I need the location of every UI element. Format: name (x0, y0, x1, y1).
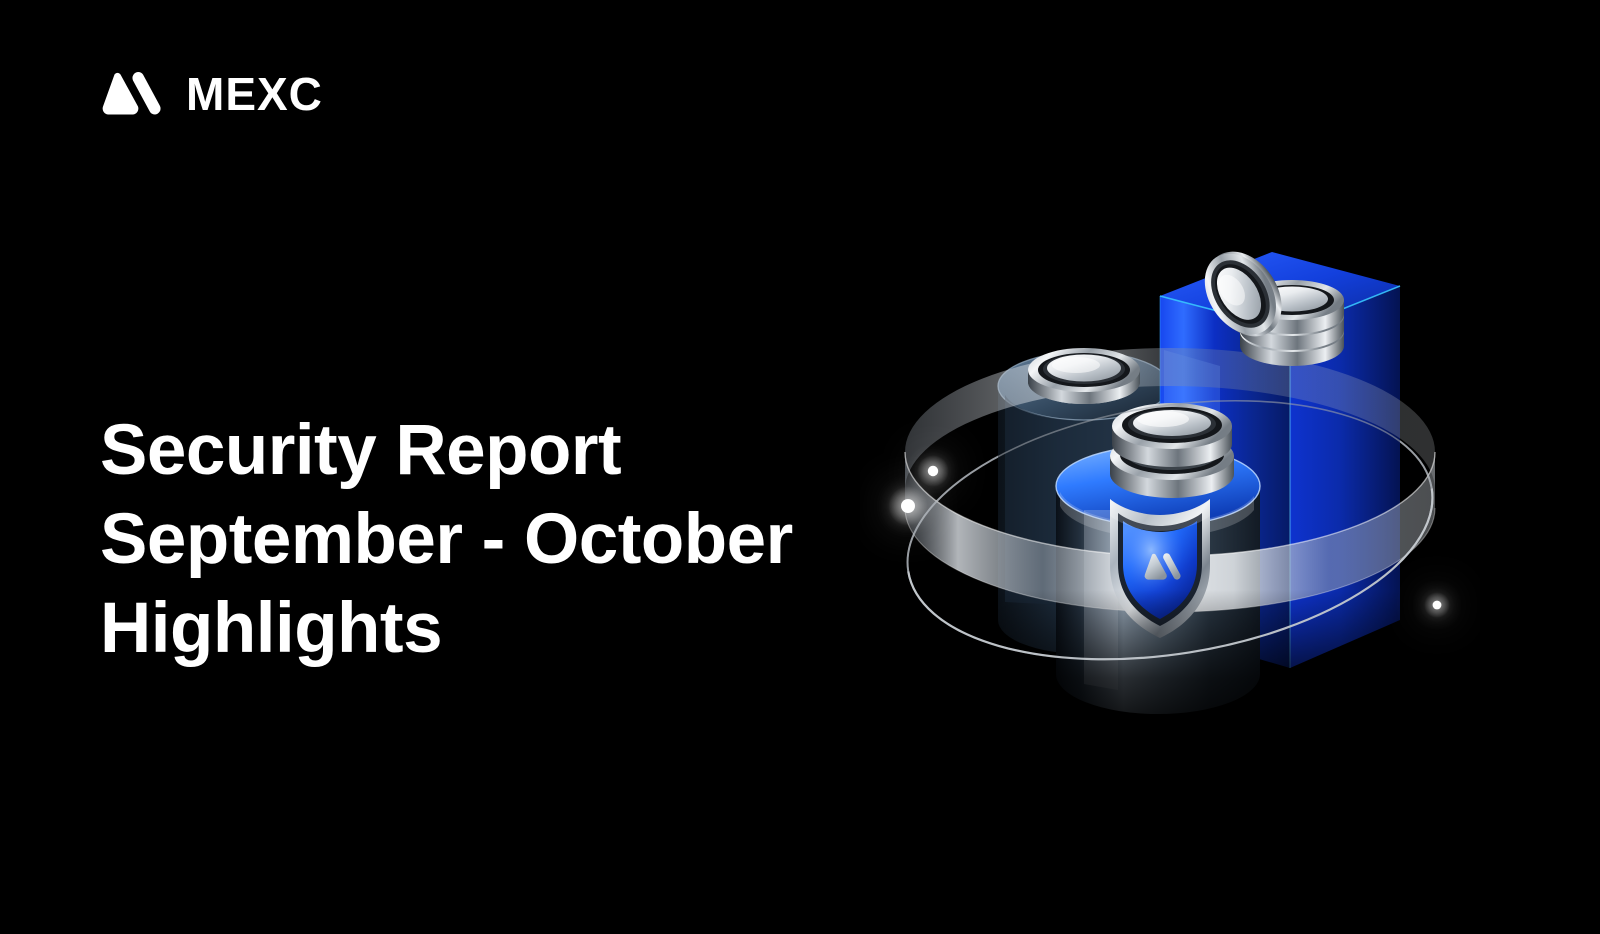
security-report-banner: MEXC Security Report September - October… (0, 0, 1600, 934)
coin-stack-center (1110, 403, 1234, 498)
coin-stack-left (1028, 348, 1140, 404)
page-title: Security Report September - October High… (100, 406, 880, 673)
glow-dot-2 (888, 486, 928, 526)
glow-dot-1 (917, 455, 949, 487)
headline-line-2: September - October (100, 495, 880, 584)
headline-line-3: Highlights (100, 584, 880, 673)
security-podium-illustration (860, 190, 1480, 750)
mexc-logo[interactable]: MEXC (100, 66, 323, 122)
mexc-wordmark: MEXC (186, 71, 323, 117)
glow-dot-3 (1424, 592, 1450, 618)
mexc-logo-mark-icon (100, 70, 164, 118)
headline-line-1: Security Report (100, 406, 880, 495)
